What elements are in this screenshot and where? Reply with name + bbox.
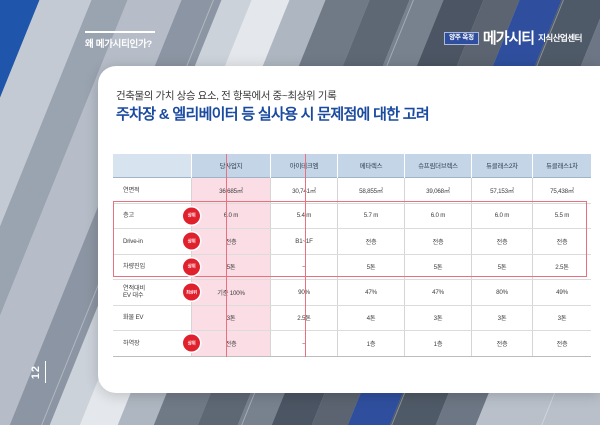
logo-main-text: 메가시티 [483,31,534,46]
cell-r4-c3: 47% [338,280,405,306]
cell-r5-c4: 3톤 [405,305,472,331]
table-row: 연면적 36,685㎡ 30,741㎡ 58,855㎡ 39,068㎡ 57,1… [113,178,591,204]
cell-r4-c1: 기준 100% [192,280,271,306]
cell-r3-c4: 5톤 [405,254,472,280]
cell-r1-c4: 6.0 m [405,203,472,229]
table-row: 차량진입 상위 5톤 – 5톤 5톤 5톤 2.5톤 [113,254,591,280]
row-label-cell: 차량진입 상위 [113,254,192,280]
page-title: 주차장 & 엘리베이터 등 실사용 시 문제점에 대한 고려 [116,103,429,124]
table-header-col-1: 당사업지 [192,154,271,178]
section-label: 왜 메가시티인가? [85,36,152,50]
page-number-bar [45,361,46,383]
row-label-line2: EV 대수 [123,292,143,299]
table-header-col-6: 듀클래스1차 [533,154,592,178]
table-row: 층고 상위 6.0 m 5.4 m 5.7 m 6.0 m 6.0 m 5.5 … [113,203,591,229]
cell-r0-c4: 39,068㎡ [405,178,472,204]
cell-r0-c3: 58,855㎡ [338,178,405,204]
row-label: 연면적 [123,187,139,194]
cell-r1-c6: 5.5 m [533,203,592,229]
table-body: 연면적 36,685㎡ 30,741㎡ 58,855㎡ 39,068㎡ 57,1… [113,178,591,357]
cell-r2-c5: 전층 [472,229,533,255]
table-row: 연적대비 EV 대수 최상위 기준 100% 90% 47% 47% 80% 4… [113,280,591,306]
row-label-cell: 하역장 상위 [113,331,192,357]
cell-r3-c6: 2.5톤 [533,254,592,280]
row-label-cell: Drive-in 상위 [113,229,192,255]
cell-r0-c2: 30,741㎡ [271,178,338,204]
row-label-cell: 연면적 [113,178,192,204]
comparison-table: 당사업지 아이테크엠 메타렉스 슈프림더브렉스 듀클래스2차 듀클래스1차 연면… [113,154,591,357]
row-label: 차량진입 [123,263,145,270]
cell-r6-c6: 전층 [533,331,592,357]
logo-sub-text: 지식산업센터 [538,34,582,43]
cell-r5-c6: 3톤 [533,305,592,331]
table-row: 하역장 상위 전층 – 1층 1층 전층 전층 [113,331,591,357]
row-label: Drive-in [123,238,143,245]
cell-r6-c4: 1층 [405,331,472,357]
cell-r3-c1: 5톤 [192,254,271,280]
row-label: 하역장 [123,340,139,347]
cell-r1-c2: 5.4 m [271,203,338,229]
cell-r2-c4: 전층 [405,229,472,255]
cell-r4-c5: 80% [472,280,533,306]
cell-r6-c5: 전층 [472,331,533,357]
table-header-col-3: 메타렉스 [338,154,405,178]
cell-r5-c3: 4톤 [338,305,405,331]
slide: 왜 메가시티인가? 양주 옥정 메가시티 지식산업센터 12 건축물의 가치 상… [0,0,600,425]
cell-r1-c3: 5.7 m [338,203,405,229]
comparison-table-wrapper: 당사업지 아이테크엠 메타렉스 슈프림더브렉스 듀클래스2차 듀클래스1차 연면… [113,154,585,357]
cell-r6-c1: 전층 [192,331,271,357]
header-rule [85,31,155,33]
cell-r0-c5: 57,153㎡ [472,178,533,204]
table-head: 당사업지 아이테크엠 메타렉스 슈프림더브렉스 듀클래스2차 듀클래스1차 [113,154,591,178]
cell-r1-c5: 6.0 m [472,203,533,229]
cell-r0-c6: 75,438㎡ [533,178,592,204]
page-number-text: 12 [30,365,42,379]
row-label: 화물 EV [123,314,143,321]
rank-badge: 상위 [183,233,200,250]
cell-r2-c3: 전층 [338,229,405,255]
content-card: 건축물의 가치 상승 요소, 전 항목에서 중~최상위 기록 주차장 & 엘리베… [98,66,600,393]
cell-r6-c3: 1층 [338,331,405,357]
cell-r2-c6: 전층 [533,229,592,255]
cell-r2-c2: B1~1F [271,229,338,255]
row-label: 연적대비 EV 대수 [123,285,145,299]
page-number: 12 [30,361,46,383]
rank-badge: 상위 [183,335,200,352]
cell-r6-c2: – [271,331,338,357]
table-header-col-4: 슈프림더브렉스 [405,154,472,178]
cell-r1-c1: 6.0 m [192,203,271,229]
cell-r0-c1: 36,685㎡ [192,178,271,204]
cell-r4-c6: 49% [533,280,592,306]
table-header-col-5: 듀클래스2차 [472,154,533,178]
brand-logo: 양주 옥정 메가시티 지식산업센터 [444,31,582,46]
rank-badge: 상위 [183,207,200,224]
table-header-row: 당사업지 아이테크엠 메타렉스 슈프림더브렉스 듀클래스2차 듀클래스1차 [113,154,591,178]
rank-badge: 최상위 [183,284,200,301]
cell-r3-c5: 5톤 [472,254,533,280]
row-label-cell: 층고 상위 [113,203,192,229]
rank-badge: 상위 [183,258,200,275]
cell-r4-c2: 90% [271,280,338,306]
table-row: 화물 EV 3톤 2.5톤 4톤 3톤 3톤 3톤 [113,305,591,331]
cell-r4-c4: 47% [405,280,472,306]
table-header-col-2: 아이테크엠 [271,154,338,178]
cell-r5-c5: 3톤 [472,305,533,331]
row-label-cell: 연적대비 EV 대수 최상위 [113,280,192,306]
table-row: Drive-in 상위 전층 B1~1F 전층 전층 전층 전층 [113,229,591,255]
kicker-text: 건축물의 가치 상승 요소, 전 항목에서 중~최상위 기록 [116,88,336,103]
cell-r3-c3: 5톤 [338,254,405,280]
cell-r3-c2: – [271,254,338,280]
cell-r5-c1: 3톤 [192,305,271,331]
cell-r5-c2: 2.5톤 [271,305,338,331]
row-label-cell: 화물 EV [113,305,192,331]
logo-location-badge: 양주 옥정 [444,32,479,45]
table-header-corner [113,154,192,178]
cell-r2-c1: 전층 [192,229,271,255]
row-label: 층고 [123,212,134,219]
